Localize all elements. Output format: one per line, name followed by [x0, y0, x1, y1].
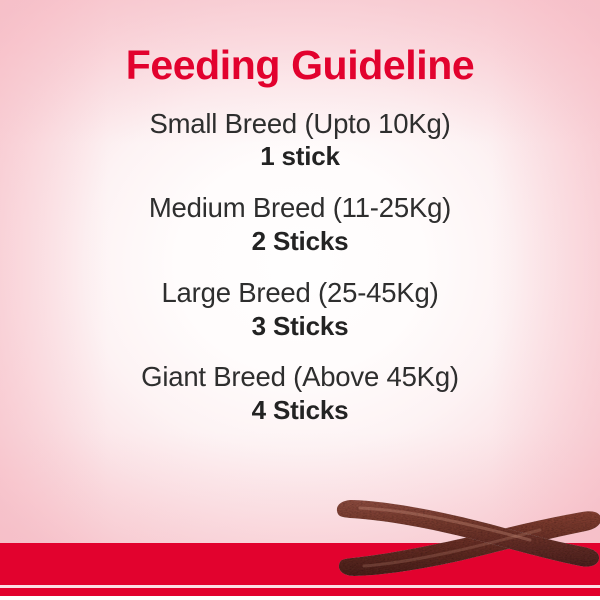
- breed-label-large: Large Breed (25-45Kg): [0, 276, 600, 310]
- amount-value-giant: 4 Sticks: [0, 394, 600, 428]
- guideline-content: Feeding Guideline Small Breed (Upto 10Kg…: [0, 0, 600, 428]
- amount-value-small: 1 stick: [0, 140, 600, 174]
- breed-label-small: Small Breed (Upto 10Kg): [0, 107, 600, 141]
- feeding-row-small: Small Breed (Upto 10Kg) 1 stick: [0, 107, 600, 175]
- breed-label-giant: Giant Breed (Above 45Kg): [0, 360, 600, 394]
- breed-label-medium: Medium Breed (11-25Kg): [0, 191, 600, 225]
- amount-value-medium: 2 Sticks: [0, 225, 600, 259]
- feeding-row-medium: Medium Breed (11-25Kg) 2 Sticks: [0, 191, 600, 259]
- feeding-guideline-card: Feeding Guideline Small Breed (Upto 10Kg…: [0, 0, 600, 600]
- footer-red-stripe: [0, 588, 600, 596]
- feeding-rows: Small Breed (Upto 10Kg) 1 stick Medium B…: [0, 107, 600, 428]
- amount-value-large: 3 Sticks: [0, 310, 600, 344]
- page-title: Feeding Guideline: [0, 0, 600, 87]
- feeding-row-large: Large Breed (25-45Kg) 3 Sticks: [0, 276, 600, 344]
- footer-white-edge: [0, 596, 600, 600]
- crossed-meat-sticks-image: [330, 496, 600, 582]
- feeding-row-giant: Giant Breed (Above 45Kg) 4 Sticks: [0, 360, 600, 428]
